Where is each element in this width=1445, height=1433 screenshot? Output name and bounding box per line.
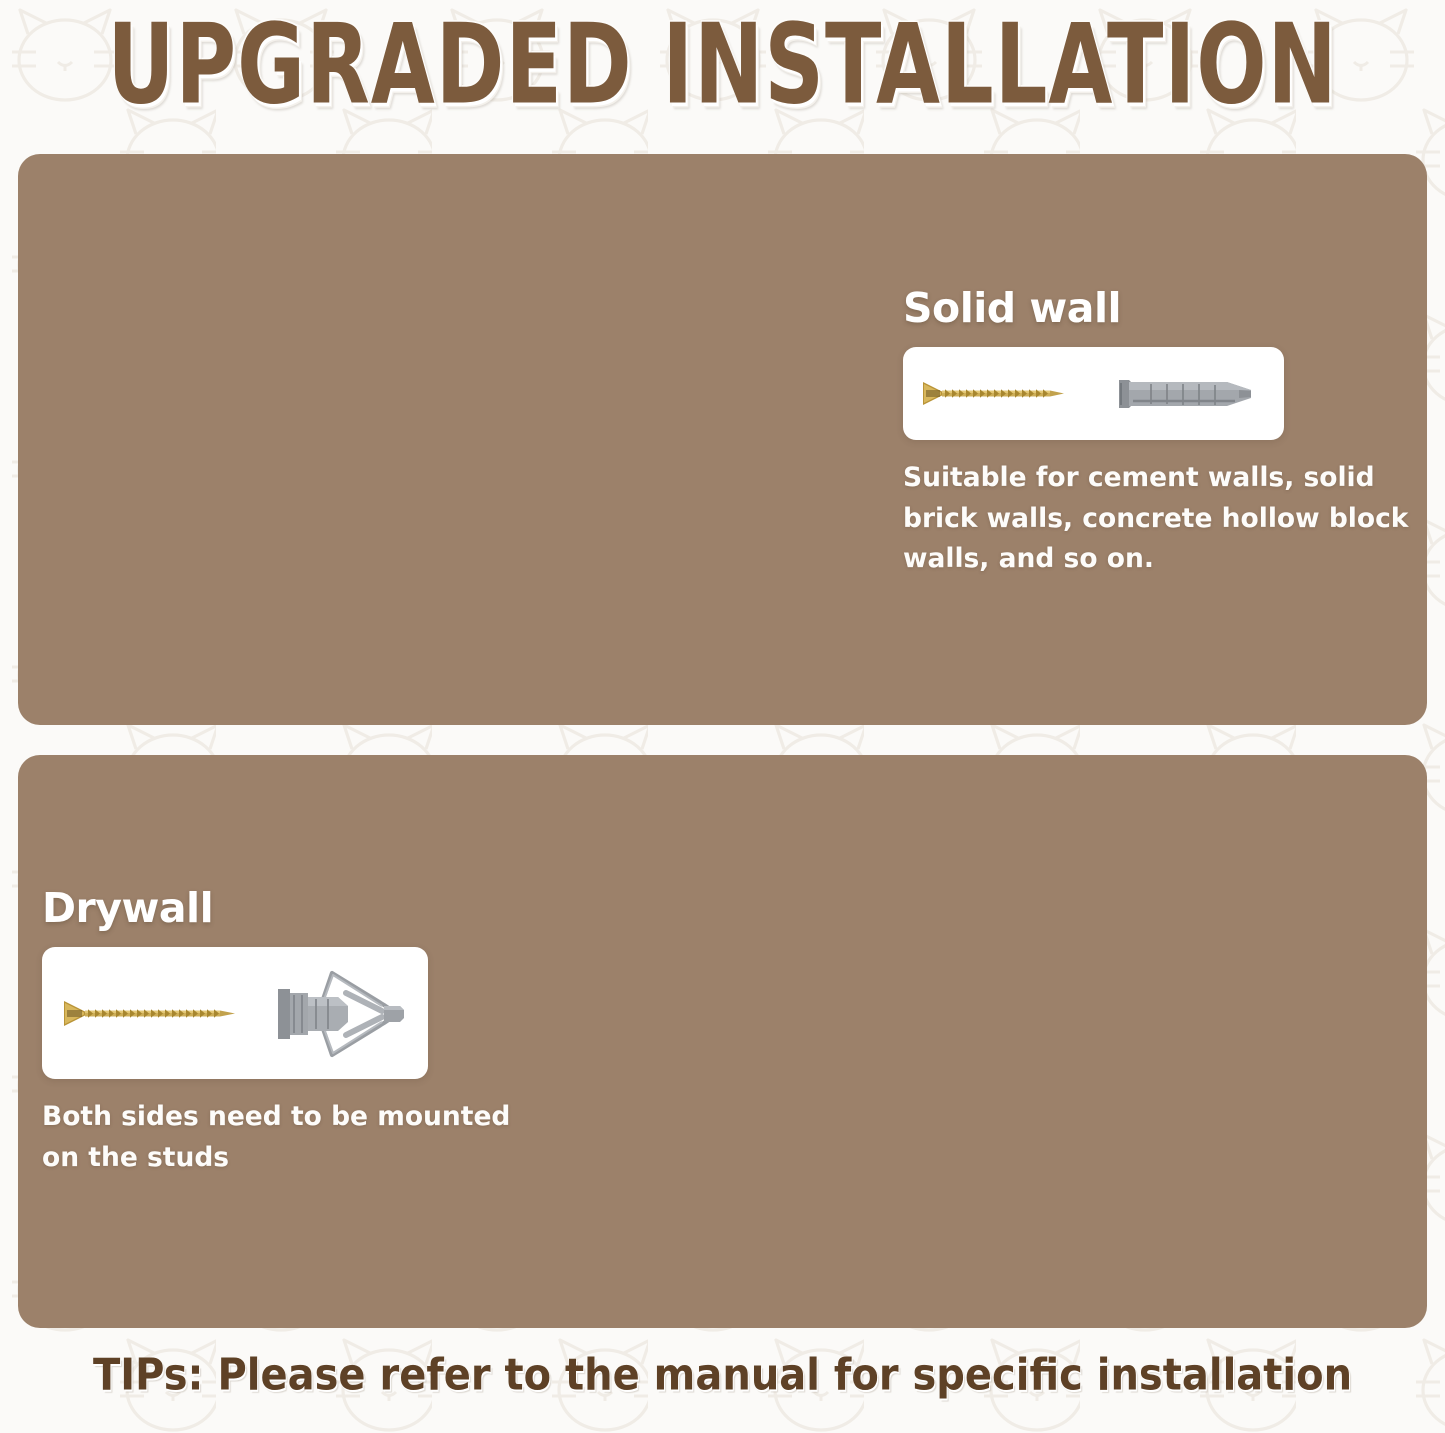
tips-text: TIPs: Please refer to the manual for spe… — [93, 1350, 1352, 1401]
drywall-info: Drywall — [42, 884, 542, 1178]
toggle-anchor-icon — [272, 961, 412, 1067]
drywall-hardware-card — [42, 947, 428, 1079]
solid-wall-hardware-card — [903, 347, 1284, 440]
page-title: UPGRADED INSTALLATION — [0, 8, 1445, 120]
drywall-heading: Drywall — [42, 884, 542, 932]
page-title-text: UPGRADED INSTALLATION — [107, 0, 1337, 129]
solid-wall-heading: Solid wall — [903, 284, 1411, 332]
screw-icon — [921, 377, 1067, 410]
solid-wall-description: Suitable for cement walls, solid brick w… — [903, 458, 1411, 580]
tips-footer: TIPs: Please refer to the manual for spe… — [0, 1352, 1445, 1398]
wall-plug-icon — [1115, 374, 1263, 414]
solid-wall-info: Solid wall — [903, 284, 1411, 580]
screw-icon — [62, 995, 238, 1031]
drywall-description: Both sides need to be mounted on the stu… — [42, 1097, 542, 1178]
